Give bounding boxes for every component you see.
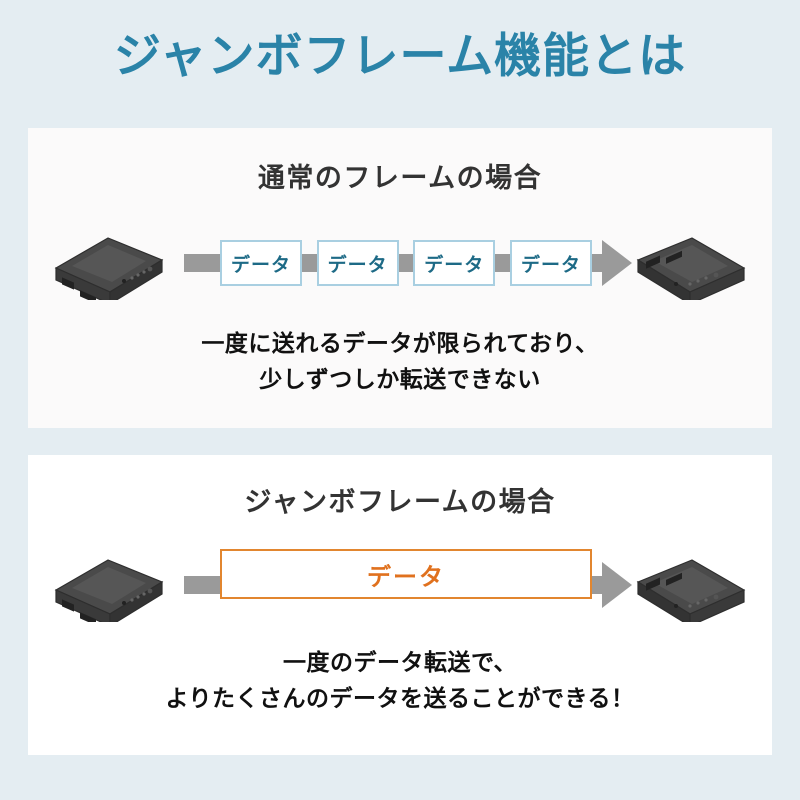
caption-line: 一度のデータ転送で、 [28, 645, 772, 681]
network-switch-icon-right [632, 226, 750, 300]
caption-line: よりたくさんのデータを送ることができる！ [28, 681, 772, 717]
normal-frame-card: 通常のフレームの場合 データ [28, 128, 772, 428]
jumbo-frame-caption: 一度のデータ転送で、 よりたくさんのデータを送ることができる！ [28, 645, 772, 716]
data-frame-label: データ [424, 250, 484, 277]
transport-arrowhead [602, 562, 632, 608]
data-frame: データ [510, 240, 592, 286]
caption-line: 一度に送れるデータが限られており、 [28, 326, 772, 362]
data-frame-label: データ [328, 250, 388, 277]
data-frame-row: データ データ データ データ [220, 227, 592, 299]
jumbo-frame-card: ジャンボフレームの場合 データ [28, 455, 772, 755]
data-frame: データ [317, 240, 399, 286]
data-frame-label: データ [231, 250, 291, 277]
transport-arrowhead [602, 240, 632, 286]
jumbo-frame-diagram: データ [28, 540, 772, 630]
normal-frame-diagram: データ データ データ データ [28, 218, 772, 308]
normal-frame-heading: 通常のフレームの場合 [28, 156, 772, 195]
network-switch-icon-left [50, 226, 168, 300]
caption-line: 少しずつしか転送できない [28, 362, 772, 398]
jumbo-frame-heading: ジャンボフレームの場合 [28, 480, 772, 519]
data-frame: データ [413, 240, 495, 286]
data-frame-label: データ [521, 250, 581, 277]
network-switch-icon-right [632, 548, 750, 622]
normal-frame-caption: 一度に送れるデータが限られており、 少しずつしか転送できない [28, 326, 772, 397]
network-switch-icon-left [50, 548, 168, 622]
page-title: ジャンボフレーム機能とは [0, 28, 800, 84]
data-frame: データ [220, 240, 302, 286]
jumbo-data-frame-label: データ [367, 557, 445, 592]
jumbo-data-frame: データ [220, 549, 592, 599]
